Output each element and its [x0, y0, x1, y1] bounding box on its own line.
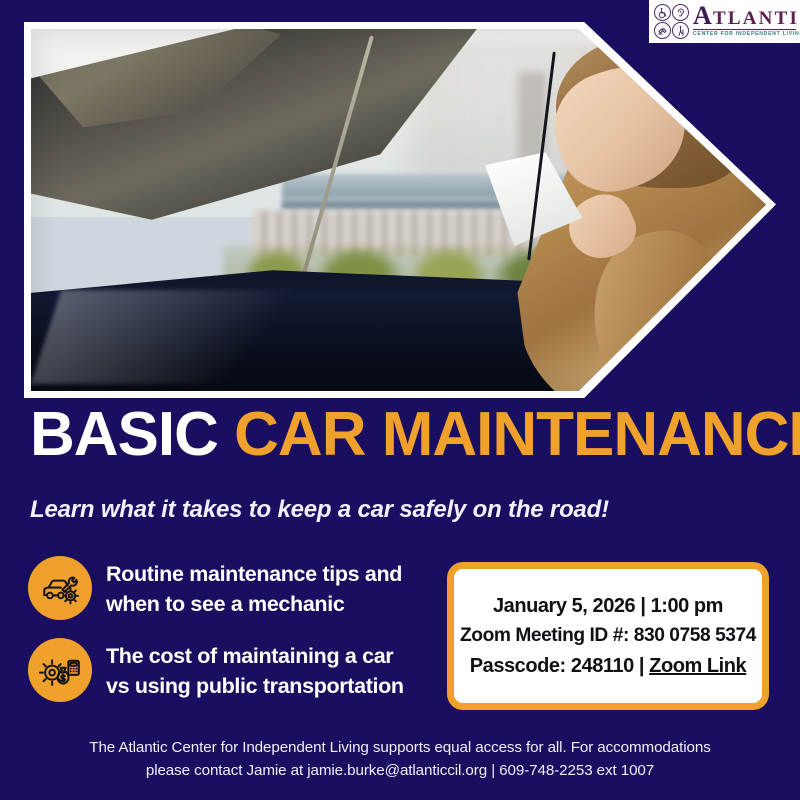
- car-with-wrench-and-gear-icon: [28, 556, 92, 620]
- bullet-line-1: The cost of maintaining a car: [106, 644, 393, 668]
- footer-accommodations-notice: The Atlantic Center for Independent Livi…: [20, 736, 780, 782]
- photo-vignette: [31, 29, 769, 391]
- hearing-assistance-icon: [672, 4, 689, 21]
- mobility-cane-icon: [672, 22, 689, 39]
- logo-big-a: A: [693, 6, 714, 26]
- event-date-time: January 5, 2026 | 1:00 pm: [493, 591, 723, 621]
- logo-name-rest: TLANTIC: [713, 9, 800, 28]
- bullet-text: Routine maintenance tips and when to see…: [106, 556, 402, 619]
- bullet-list: Routine maintenance tips and when to see…: [28, 556, 430, 720]
- title-part-basic: BASIC: [30, 400, 234, 469]
- bullet-text: The cost of maintaining a car vs using p…: [106, 638, 404, 701]
- bullet-line-2: when to see a mechanic: [106, 592, 344, 616]
- bullet-line-2: vs using public transportation: [106, 674, 404, 698]
- passcode-text: Passcode: 248110 |: [470, 655, 649, 677]
- page-title: BASIC CAR MAINTENANCE: [30, 404, 770, 466]
- sign-language-icon: [654, 22, 671, 39]
- hero-photo: [31, 29, 769, 391]
- logo-icon-grid: [654, 4, 689, 39]
- list-item: Routine maintenance tips and when to see…: [28, 556, 430, 620]
- page-subtitle: Learn what it takes to keep a car safely…: [30, 495, 770, 525]
- wheelchair-accessibility-icon: [654, 4, 671, 21]
- logo-wordmark: ATLANTIC CENTER FOR INDEPENDENT LIVING, …: [693, 6, 796, 37]
- zoom-meeting-id: Zoom Meeting ID #: 830 0758 5374: [460, 621, 756, 651]
- hero-image-container: [24, 22, 776, 398]
- zoom-passcode-line: Passcode: 248110 | Zoom Link: [470, 651, 746, 681]
- money-bag-calculator-gear-icon: [28, 638, 92, 702]
- atlantic-logo: ATLANTIC CENTER FOR INDEPENDENT LIVING, …: [649, 0, 800, 43]
- footer-line-1: The Atlantic Center for Independent Livi…: [20, 736, 780, 759]
- bullet-line-1: Routine maintenance tips and: [106, 562, 402, 586]
- logo-tagline-text: CENTER FOR INDEPENDENT LIVING: [693, 31, 800, 37]
- zoom-link[interactable]: Zoom Link: [649, 655, 746, 677]
- footer-line-2: please contact Jamie at jamie.burke@atla…: [20, 759, 780, 782]
- title-part-car-maintenance: CAR MAINTENANCE: [234, 400, 800, 469]
- list-item: The cost of maintaining a car vs using p…: [28, 638, 430, 702]
- event-details-box: January 5, 2026 | 1:00 pm Zoom Meeting I…: [447, 562, 769, 710]
- logo-name: ATLANTIC: [693, 6, 796, 28]
- poster-canvas: ATLANTIC CENTER FOR INDEPENDENT LIVING, …: [0, 0, 800, 800]
- logo-tagline: CENTER FOR INDEPENDENT LIVING, inc: [693, 29, 796, 37]
